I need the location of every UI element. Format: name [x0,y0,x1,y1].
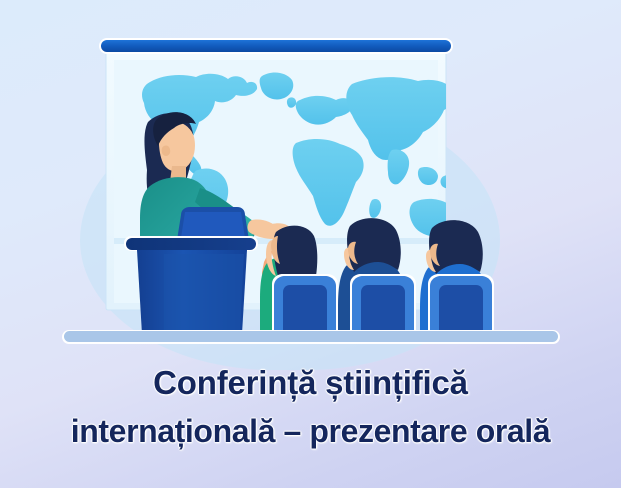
chair-2 [350,274,416,334]
floor-bar [62,330,560,344]
chair-3 [428,274,494,334]
projector-screen-top-bar [99,38,453,54]
podium [124,236,258,334]
caption-line-1: Conferință științifică [153,358,468,407]
poster: Conferință științifică internațională – … [0,0,621,488]
laptop [177,207,249,240]
chair-1 [272,274,338,334]
caption-line-2: internațională – prezentare orală [71,407,550,456]
poster-caption: Conferință științifică internațională – … [0,352,621,488]
conference-illustration [0,0,621,352]
